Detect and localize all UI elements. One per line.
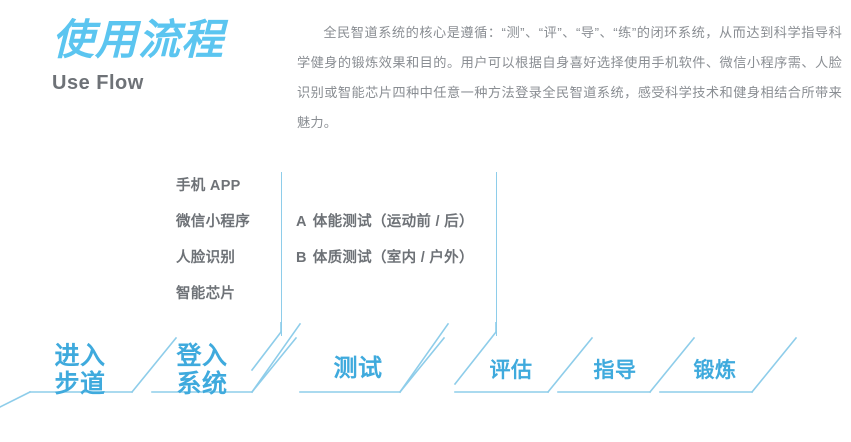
use-flow-infographic: 使用流程 Use Flow 全民智道系统的核心是遵循：“测”、“评”、“导”、“… [0, 0, 851, 442]
test-label: 体质测试（室内 / 户外） [313, 250, 474, 266]
intro-paragraph: 全民智道系统的核心是遵循：“测”、“评”、“导”、“练”的闭环系统，从而达到科学… [297, 18, 842, 138]
page-title-en: Use Flow [52, 72, 292, 95]
bracket-diagonal-left [252, 332, 281, 370]
flow-step-line: 评估 [458, 359, 564, 383]
test-types-list: A体能测试（运动前 / 后） B体质测试（室内 / 户外） [296, 204, 496, 276]
flow-step-line: 系统 [150, 370, 254, 398]
flow-step-line: 步道 [28, 370, 132, 398]
list-item: 智能芯片 [176, 276, 272, 312]
flow-step-line: 测试 [300, 356, 416, 383]
list-item: A体能测试（运动前 / 后） [296, 204, 496, 240]
detail-area: 手机 APP 微信小程序 人脸识别 智能芯片 A体能测试（运动前 / 后） B体… [0, 160, 851, 340]
heading-block: 使用流程 Use Flow [52, 18, 292, 95]
flow-diagonal-lead [0, 392, 30, 414]
bracket-line-left [281, 172, 282, 336]
list-item: 人脸识别 [176, 240, 272, 276]
flow-diagonal-tall-left [252, 324, 300, 392]
flow-step-login-system[interactable]: 登入系统 [150, 342, 254, 398]
list-item: 微信小程序 [176, 204, 272, 240]
list-item: B体质测试（室内 / 户外） [296, 240, 496, 276]
flow-step-line: 锻炼 [662, 359, 768, 383]
test-label: 体能测试（运动前 / 后） [313, 214, 474, 230]
flow-step-line: 登入 [150, 342, 254, 370]
flow-step-enter-trail[interactable]: 进入步道 [28, 342, 132, 398]
page-title-cn: 使用流程 [52, 18, 292, 62]
flow-step-line: 指导 [562, 359, 668, 383]
list-item: 手机 APP [176, 168, 272, 204]
flow-step-evaluate[interactable]: 评估 [458, 359, 564, 383]
flow-step-test[interactable]: 测试 [300, 356, 416, 383]
test-tag: A [296, 214, 307, 230]
test-tag: B [296, 250, 307, 266]
flow-bar: 进入步道 登入系统 测试 评估 指导 锻炼 [0, 322, 851, 442]
login-methods-list: 手机 APP 微信小程序 人脸识别 智能芯片 [176, 168, 272, 312]
flow-step-exercise[interactable]: 锻炼 [662, 359, 768, 383]
flow-step-guide[interactable]: 指导 [562, 359, 668, 383]
flow-step-line: 进入 [28, 342, 132, 370]
bracket-line-right [496, 172, 497, 336]
